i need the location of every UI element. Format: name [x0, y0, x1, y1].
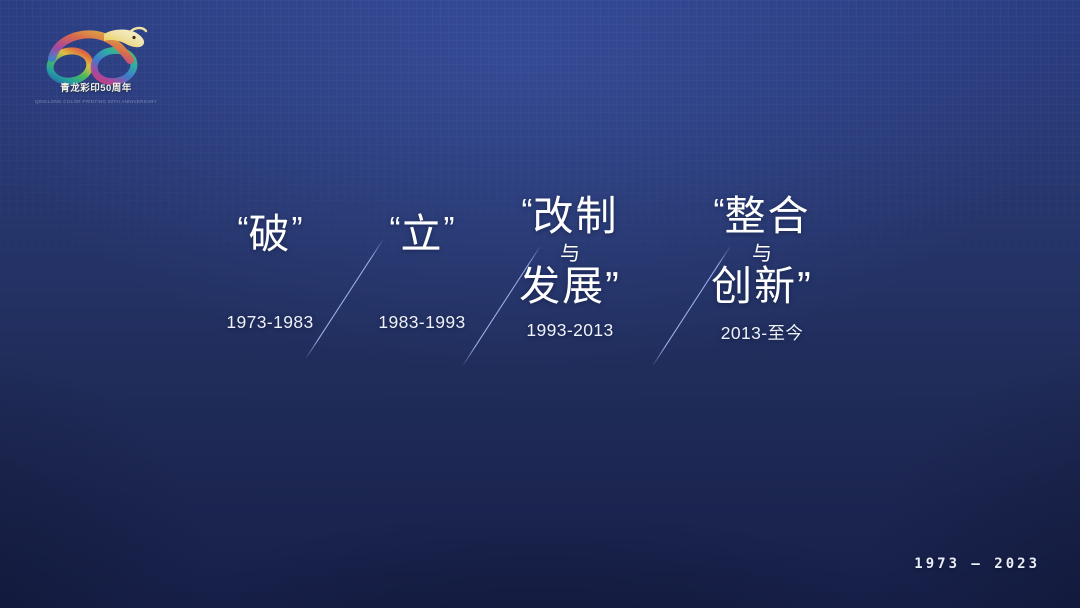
- phase-4-title-line2: 创新”: [662, 266, 862, 308]
- timeline: “破” 1973-1983 “立” 1983-1993 “改制 与 发展” 19…: [0, 190, 1080, 390]
- phase-3-date: 1993-2013: [470, 320, 670, 341]
- phase-3-title-line2: 发展”: [470, 266, 670, 308]
- phase-4-title-text: 整合: [725, 193, 811, 239]
- phase-1-title-text: 破: [249, 211, 292, 257]
- phase-4-connector: 与: [662, 244, 862, 264]
- slide-canvas: 青龙彩印50周年 QINGLONG COLOR PRINTING 50TH AN…: [0, 0, 1080, 608]
- logo-subcaption: QINGLONG COLOR PRINTING 50TH ANNIVERSARY: [34, 99, 158, 104]
- phase-2-title-text: 立: [401, 211, 444, 257]
- anniversary-logo: 青龙彩印50周年 QINGLONG COLOR PRINTING 50TH AN…: [34, 22, 158, 118]
- phase-2-close-quote: ”: [444, 210, 455, 247]
- phase-3-connector: 与: [470, 244, 670, 264]
- phase-3-title: “改制: [470, 194, 670, 238]
- logo-caption: 青龙彩印50周年: [34, 84, 158, 95]
- phase-4-date: 2013-至今: [662, 320, 862, 345]
- timeline-phase-3: “改制 与 发展” 1993-2013: [470, 194, 670, 341]
- phase-1-open-quote: “: [238, 210, 249, 247]
- footer-year-range: 1973 — 2023: [914, 556, 1040, 572]
- phase-3-open-quote: “: [522, 192, 533, 229]
- phase-4-open-quote: “: [714, 192, 725, 229]
- phase-4-title: “整合: [662, 194, 862, 238]
- phase-1-close-quote: ”: [292, 210, 303, 247]
- timeline-phase-4: “整合 与 创新” 2013-至今: [662, 194, 862, 345]
- phase-3-title-text: 改制: [533, 193, 619, 239]
- phase-2-open-quote: “: [390, 210, 401, 247]
